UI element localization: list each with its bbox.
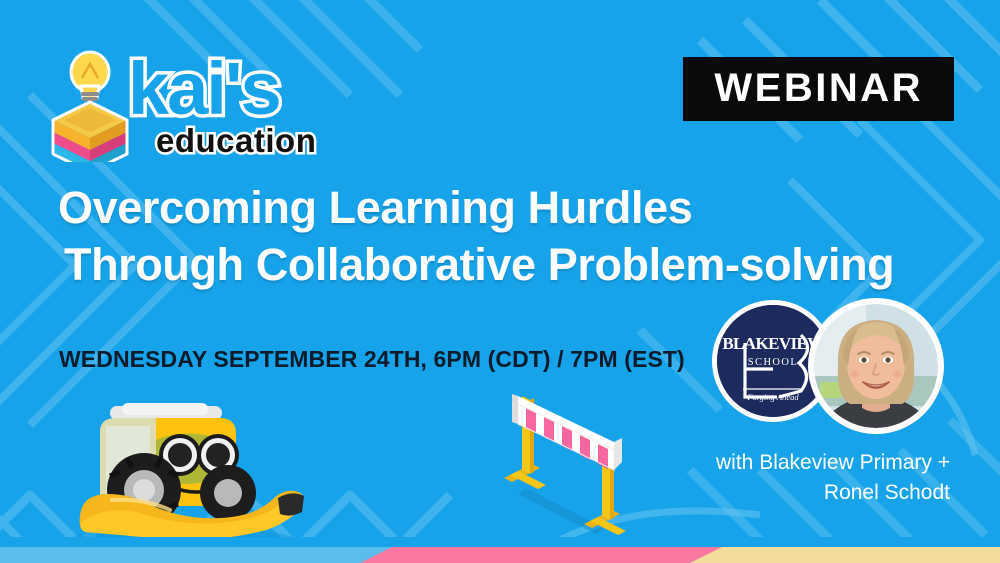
lightbulb-cube-logo-icon <box>48 50 132 162</box>
presenter-cluster: BLAKEVIEW SCHOOL Forging Ahead <box>712 298 952 508</box>
presenter-photo-avatar <box>808 298 944 434</box>
svg-text:Forging Ahead: Forging Ahead <box>746 392 799 402</box>
title-line-1: Overcoming Learning Hurdles <box>58 180 958 237</box>
brand-wordmark: kai's education <box>126 44 326 162</box>
brand-logo[interactable]: kai's education <box>48 48 318 166</box>
presenter-caption: with Blakeview Primary + Ronel Schodt <box>680 448 950 509</box>
event-datetime: WEDNESDAY SEPTEMBER 24TH, 6PM (CDT) / 7P… <box>59 346 685 373</box>
webinar-poster: kai's education WEBINAR Overcoming Learn… <box>0 0 1000 563</box>
svg-text:education: education <box>156 122 316 159</box>
presenter-caption-line-1: with Blakeview Primary + <box>680 448 950 478</box>
hurdle-illustration <box>492 388 632 543</box>
svg-text:SCHOOL: SCHOOL <box>748 357 798 368</box>
page-title: Overcoming Learning Hurdles Through Coll… <box>58 180 958 293</box>
kai-robot-illustration <box>52 398 322 550</box>
title-line-2: Through Collaborative Problem-solving <box>58 237 958 294</box>
presenter-caption-line-2: Ronel Schodt <box>680 478 950 508</box>
footer-color-strip <box>0 537 1000 563</box>
svg-text:kai's: kai's <box>128 47 280 130</box>
webinar-badge: WEBINAR <box>683 57 954 121</box>
